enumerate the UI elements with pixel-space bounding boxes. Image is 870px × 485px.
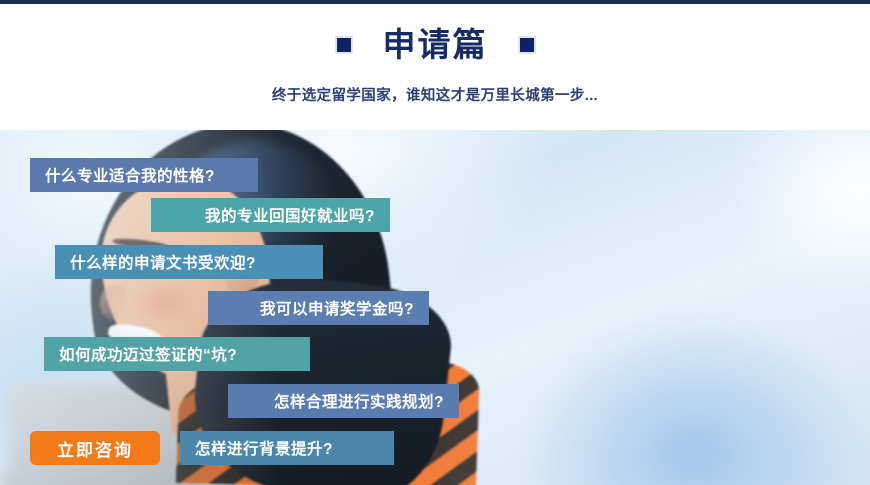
question-tag[interactable]: 我可以申请奖学金吗?: [208, 291, 429, 325]
promo-banner: 申请篇 终于选定留学国家，谁知这才是万里长城第一步...: [0, 0, 870, 485]
hero-photo: 什么专业适合我的性格?我的专业回国好就业吗?什么样的申请文书受欢迎?我可以申请奖…: [0, 130, 870, 485]
banner-header: 申请篇 终于选定留学国家，谁知这才是万里长城第一步...: [0, 4, 870, 130]
square-bullet-right-icon: [518, 36, 536, 54]
question-tag[interactable]: 什么样的申请文书受欢迎?: [55, 245, 323, 279]
square-bullet-left-icon: [335, 36, 353, 54]
page-title: 申请篇: [383, 28, 488, 61]
subject-nose: [100, 286, 126, 320]
question-tag[interactable]: 怎样合理进行实践规划?: [228, 384, 459, 418]
subject-cheek: [132, 280, 194, 324]
question-tag[interactable]: 什么专业适合我的性格?: [30, 158, 258, 192]
consult-now-button[interactable]: 立即咨询: [30, 431, 160, 465]
question-tag[interactable]: 如何成功迈过签证的“坑?: [44, 337, 310, 371]
question-tag[interactable]: 我的专业回国好就业吗?: [151, 198, 390, 232]
question-tag[interactable]: 怎样进行背景提升?: [180, 431, 394, 465]
title-row: 申请篇: [0, 28, 870, 61]
banner-subtitle: 终于选定留学国家，谁知这才是万里长城第一步...: [0, 84, 870, 105]
